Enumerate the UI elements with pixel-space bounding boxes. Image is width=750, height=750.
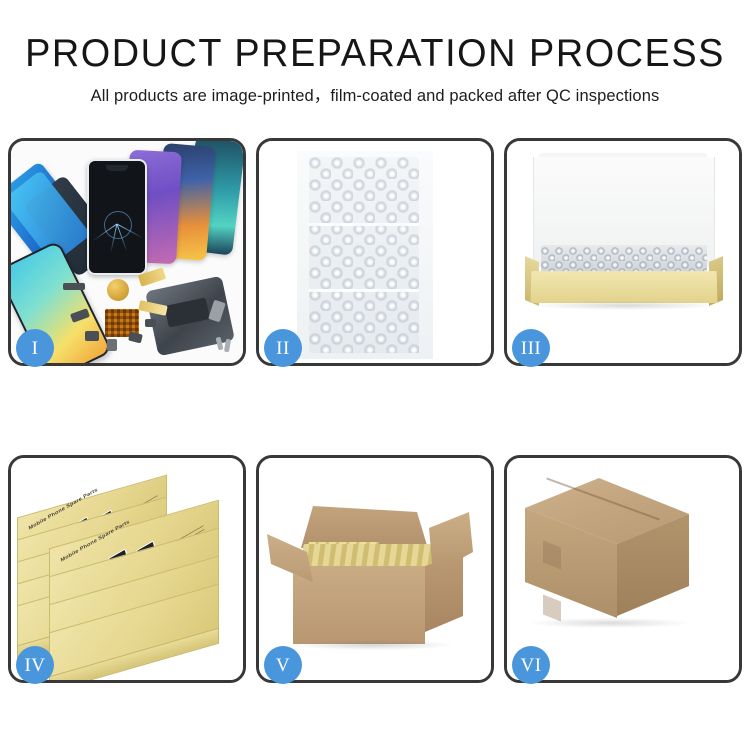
step-1-image <box>11 141 243 363</box>
bubble-texture <box>309 157 419 353</box>
screw-part <box>224 339 231 353</box>
pouch-seam <box>309 289 419 292</box>
step-badge-2: II <box>264 329 302 367</box>
process-step-panel-5: V <box>256 455 494 683</box>
gold-coil-part <box>107 279 129 301</box>
carton-front-face <box>293 566 425 644</box>
step-badge-1: I <box>16 329 54 367</box>
step-5-image <box>259 458 491 680</box>
process-step-panel-3: III <box>504 138 742 366</box>
step-2-image <box>259 141 491 363</box>
bubble-wrap-pouch <box>309 157 419 353</box>
product-preparation-infographic: PRODUCT PREPARATION PROCESS All products… <box>0 0 750 750</box>
carton-shadow <box>293 640 453 650</box>
box-stack: Mobile Phone Spare Parts <box>11 458 243 680</box>
step-badge-4: IV <box>16 646 54 684</box>
bubble-wrap-inside-box <box>541 247 707 273</box>
process-step-panel-6: VI <box>504 455 742 683</box>
box-shadow <box>533 301 717 310</box>
page-title: PRODUCT PREPARATION PROCESS <box>11 0 739 75</box>
step-badge-5: V <box>264 646 302 684</box>
step-3-image <box>507 141 739 363</box>
small-part <box>128 332 143 344</box>
box-front-panel <box>531 271 718 303</box>
small-part <box>85 331 99 341</box>
carton-shadow <box>531 618 689 628</box>
header: PRODUCT PREPARATION PROCESS All products… <box>0 0 750 106</box>
step-badge-3: III <box>512 329 550 367</box>
small-part <box>63 283 85 290</box>
page-subtitle: All products are image-printed，film-coat… <box>0 75 750 106</box>
process-step-panel-2: II <box>256 138 494 366</box>
step-6-image <box>507 458 739 680</box>
step-badge-6: VI <box>512 646 550 684</box>
step-4-image: Mobile Phone Spare Parts <box>11 458 243 680</box>
small-part <box>107 339 117 351</box>
pouch-seam <box>309 223 419 226</box>
black-phone-screen <box>87 159 147 275</box>
process-step-panel-1: I <box>8 138 246 366</box>
small-part <box>145 319 156 327</box>
process-steps-grid: I II <box>8 138 742 687</box>
process-step-panel-4: Mobile Phone Spare Parts <box>8 455 246 683</box>
